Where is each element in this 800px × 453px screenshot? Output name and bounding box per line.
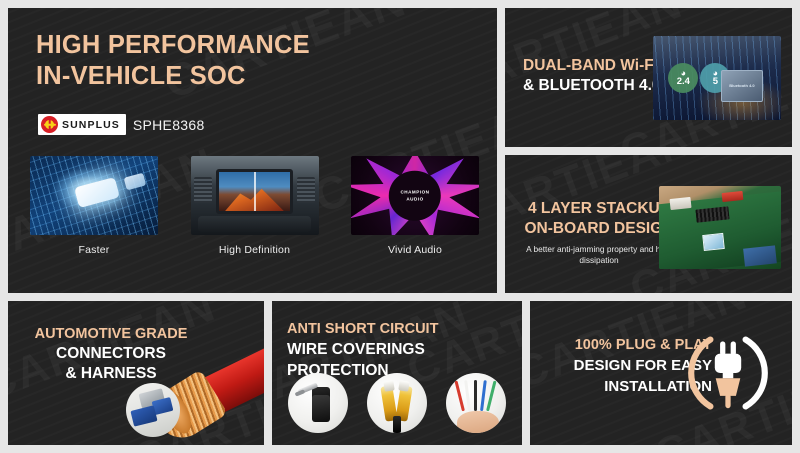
champion-audio-badge: CHAMPION AUDIO [389,170,441,221]
wifi-heading-line1: DUAL-BAND Wi-Fi [523,56,661,76]
wifi-heading-line2: & BLUETOOTH 4.0 [523,76,661,96]
pcb-board-image [659,186,781,269]
yellow-rca-connectors-image [367,373,427,433]
stackup-panel: CARTIEAN CARTIEAN 4 LAYER STACKUP ON-BOA… [505,155,792,293]
sunplus-wordmark: SUNPLUS [62,119,120,131]
wifi-bluetooth-panel: CARTIEAN CARTIEAN DUAL-BAND Wi-Fi & BLUE… [505,8,792,147]
car-dashboard-screen-image [191,156,319,235]
sunplus-mark-icon [41,116,58,133]
dashboard-display [216,169,293,214]
dashboard-vent-right [297,177,315,204]
feature-thumbnail: CHAMPION AUDIO Vivid Audio [351,156,479,256]
stackup-heading-line1: 4 LAYER STACKUP [519,199,679,219]
circuit-board-chip-image [30,156,158,235]
chip-model-number: SPHE8368 [133,117,205,133]
feature-thumbnail: High Definition [191,156,319,256]
stackup-heading-line2: ON-BOARD DESIGN [519,219,679,239]
wire-blue [480,380,487,411]
wire-green [486,381,496,412]
feature-caption: Faster [30,244,158,256]
hero-title-line2: IN-VEHICLE SOC [36,61,310,92]
connectors-panel: CARTIEAN CARTIEAN AUTOMOTIVE GRADE CONNE… [8,301,264,445]
black-audio-jack-image [288,373,348,433]
hero-title-line1: HIGH PERFORMANCE [36,30,310,61]
wifi-heading: DUAL-BAND Wi-Fi & BLUETOOTH 4.0 [523,56,661,96]
blue-connectors-image [126,383,180,437]
hero-panel: CARTIEAN CARTIEAN CARTIEAN HIGH PERFORMA… [8,8,497,293]
pcb-soc-chip [702,233,724,251]
wire-black [474,380,477,411]
page-title: HIGH PERFORMANCE IN-VEHICLE SOC [36,30,310,92]
jack-body [312,395,330,423]
short-circuit-heading-line1: ANTI SHORT CIRCUIT [287,319,522,339]
sunplus-logo: SUNPLUS [38,114,126,135]
hand-holding-wires [457,411,499,433]
short-circuit-panel: CARTIEAN CARTIEAN ANTI SHORT CIRCUIT WIR… [272,301,522,445]
dashboard-vent-left [194,177,212,204]
feature-thumbnail: Faster [30,156,158,256]
feature-thumbnail-list: Faster High Definition CHAM [30,156,479,256]
champion-audio-line2: AUDIO [406,195,423,202]
jack-pin-tip [295,389,305,396]
wifi-bluetooth-chip-image: ◕ 2.4 ◕ 5 Bluetooth 4.0 [653,36,781,120]
short-circuit-heading: ANTI SHORT CIRCUIT WIRE COVERINGS PROTEC… [287,319,522,381]
audio-burst-image: CHAMPION AUDIO [351,156,479,235]
feature-caption: High Definition [191,244,319,256]
rca-cable-tail [393,416,401,433]
connector-plug-lower [131,405,158,426]
stackup-heading: 4 LAYER STACKUP ON-BOARD DESIGN A better… [519,199,679,266]
dashboard-base [198,216,311,232]
plug-and-play-panel: CARTIEAN CARTIEAN 100% PLUG & PLAY DESIG… [530,301,792,445]
colored-wires-image [446,373,506,433]
bluetooth-chip-label: Bluetooth 4.0 [721,70,763,102]
rca-tip-left [383,380,395,391]
short-circuit-image-list [288,373,506,433]
stackup-subtitle: A better anti-jamming property and heat … [519,244,679,266]
connectors-heading-line1: AUTOMOTIVE GRADE [22,325,200,344]
slide-canvas: CARTIEAN CARTIEAN CARTIEAN HIGH PERFORMA… [0,0,800,453]
power-plug-icon [684,329,772,417]
wifi-band-5-label: 5 [713,77,718,86]
feature-caption: Vivid Audio [351,244,479,256]
brand-row: SUNPLUS SPHE8368 [38,114,205,135]
pcb-blue-module [744,246,777,267]
wifi-band-24-label: 2.4 [677,77,690,86]
wifi-band-24-badge: ◕ 2.4 [668,63,698,93]
wire-red [454,381,464,412]
champion-audio-line1: CHAMPION [400,188,429,195]
wire-white [464,380,471,411]
